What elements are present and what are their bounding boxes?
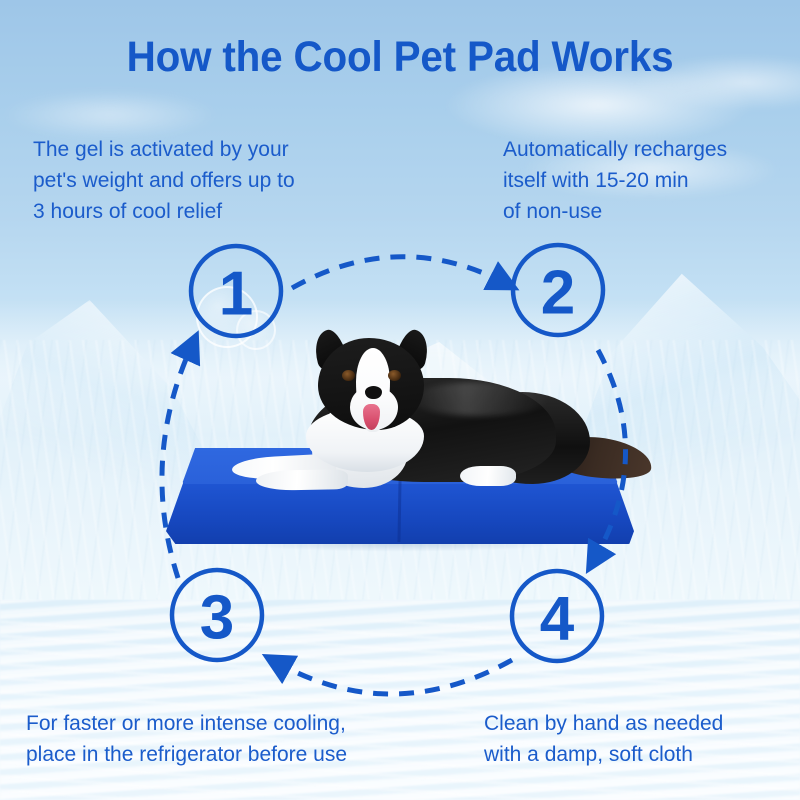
step-2-badge: 2 — [513, 245, 603, 335]
step-2-number: 2 — [541, 259, 575, 328]
arrow-4-to-3 — [276, 660, 512, 694]
step-4-number: 4 — [540, 585, 575, 654]
arrow-3-to-1 — [162, 345, 192, 578]
step-3-number: 3 — [200, 584, 234, 653]
step-1-badge: 1 — [191, 246, 281, 336]
step-3-badge: 3 — [172, 570, 262, 660]
infographic-canvas: How the Cool Pet Pad Works The gel is ac… — [0, 0, 800, 800]
step-4-badge: 4 — [512, 571, 602, 661]
arrow-2-to-4 — [594, 350, 626, 560]
cycle-diagram: 1 2 3 4 — [0, 0, 800, 800]
step-1-number: 1 — [219, 260, 253, 329]
arrow-1-to-2 — [292, 257, 505, 288]
